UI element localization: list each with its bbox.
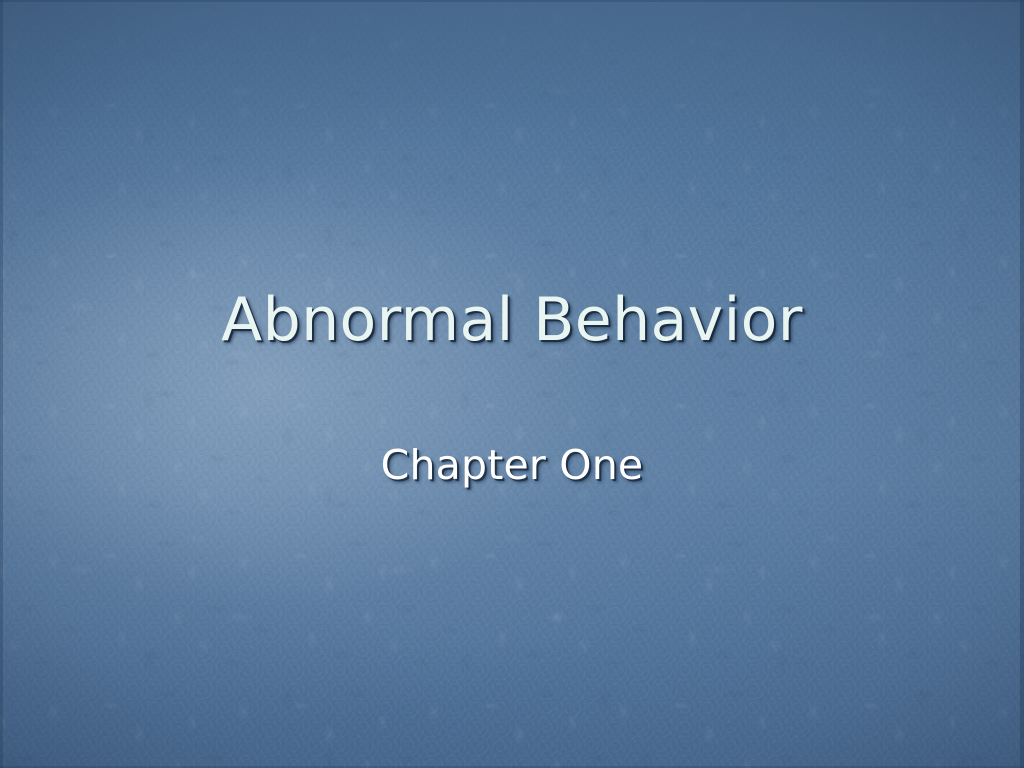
slide-text-layer: Abnormal Behavior Chapter One [0,0,1024,768]
presentation-slide: Abnormal Behavior Chapter One [0,0,1024,768]
slide-title: Abnormal Behavior [0,288,1024,353]
slide-subtitle: Chapter One [0,443,1024,488]
